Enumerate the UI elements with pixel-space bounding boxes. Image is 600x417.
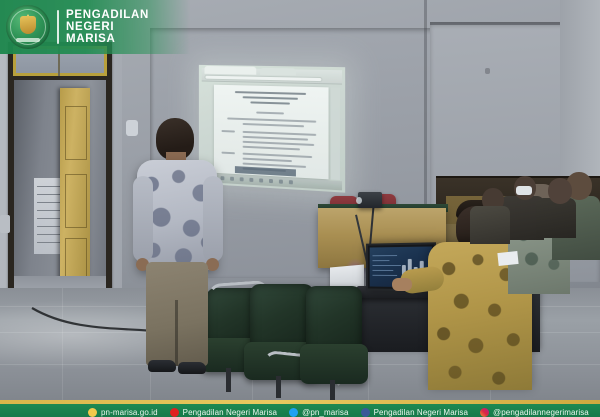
presenter-left-arm bbox=[133, 176, 153, 262]
wall-switch-plate[interactable] bbox=[0, 215, 10, 233]
wall-fixture-dot bbox=[485, 68, 490, 74]
brand-divider bbox=[57, 10, 59, 44]
attendee4-torso bbox=[470, 206, 510, 244]
elder-handout-paper bbox=[497, 251, 518, 266]
logo-base-band bbox=[16, 38, 41, 42]
projected-document-page bbox=[214, 85, 329, 180]
projected-browser-tab-secondary bbox=[260, 68, 296, 76]
brand-watermark-header: PENGADILAN NEGERI MARISA bbox=[0, 0, 190, 54]
social-item-instagram[interactable]: @pengadilannegerimarisa bbox=[480, 404, 589, 417]
social-item-twitter[interactable]: @pn_marisa bbox=[289, 404, 348, 417]
projected-screen bbox=[199, 65, 345, 193]
attendee3-head bbox=[548, 178, 572, 204]
twitter-icon bbox=[289, 408, 298, 417]
wall-mounted-box bbox=[126, 120, 138, 136]
brand-title: PENGADILAN NEGERI MARISA bbox=[66, 9, 149, 46]
presenter-right-shoe bbox=[178, 362, 206, 374]
court-emblem-logo bbox=[6, 5, 50, 49]
courtroom-scene bbox=[0, 0, 600, 417]
youtube-icon bbox=[170, 408, 179, 417]
facebook-icon bbox=[361, 408, 370, 417]
social-label-youtube: Pengadilan Negeri Marisa bbox=[183, 408, 277, 417]
social-item-youtube[interactable]: Pengadilan Negeri Marisa bbox=[170, 404, 277, 417]
brand-line-3: MARISA bbox=[66, 33, 149, 45]
projector-lens-icon bbox=[356, 197, 362, 204]
brand-line-1: PENGADILAN bbox=[66, 9, 149, 21]
attendee1-face-mask bbox=[516, 186, 532, 195]
social-label-twitter: @pn_marisa bbox=[302, 408, 348, 417]
website-icon bbox=[88, 408, 97, 417]
screenshot-canvas: PENGADILAN NEGERI MARISA pn-marisa.go.id… bbox=[0, 0, 600, 417]
presenter-right-arm bbox=[203, 176, 223, 262]
social-item-facebook[interactable]: Pengadilan Negeri Marisa bbox=[361, 404, 468, 417]
presenter-leg-seam bbox=[175, 300, 178, 366]
footer-social-bar: pn-marisa.go.id Pengadilan Negeri Marisa… bbox=[0, 404, 600, 417]
operator-hand-on-keyboard bbox=[392, 278, 412, 291]
presenter-left-shoe bbox=[148, 360, 176, 372]
wooden-door[interactable] bbox=[60, 88, 90, 293]
social-item-website[interactable]: pn-marisa.go.id bbox=[88, 404, 158, 417]
projected-scrollbar bbox=[331, 87, 340, 180]
social-label-facebook: Pengadilan Negeri Marisa bbox=[374, 408, 468, 417]
instagram-icon bbox=[480, 408, 489, 417]
social-label-instagram: @pengadilannegerimarisa bbox=[493, 408, 589, 417]
logo-shield-icon bbox=[20, 16, 36, 34]
projected-browser-tab bbox=[204, 66, 256, 75]
brand-line-2: NEGERI bbox=[66, 21, 149, 33]
attendee3-torso bbox=[536, 198, 576, 238]
social-label-website: pn-marisa.go.id bbox=[101, 408, 158, 417]
